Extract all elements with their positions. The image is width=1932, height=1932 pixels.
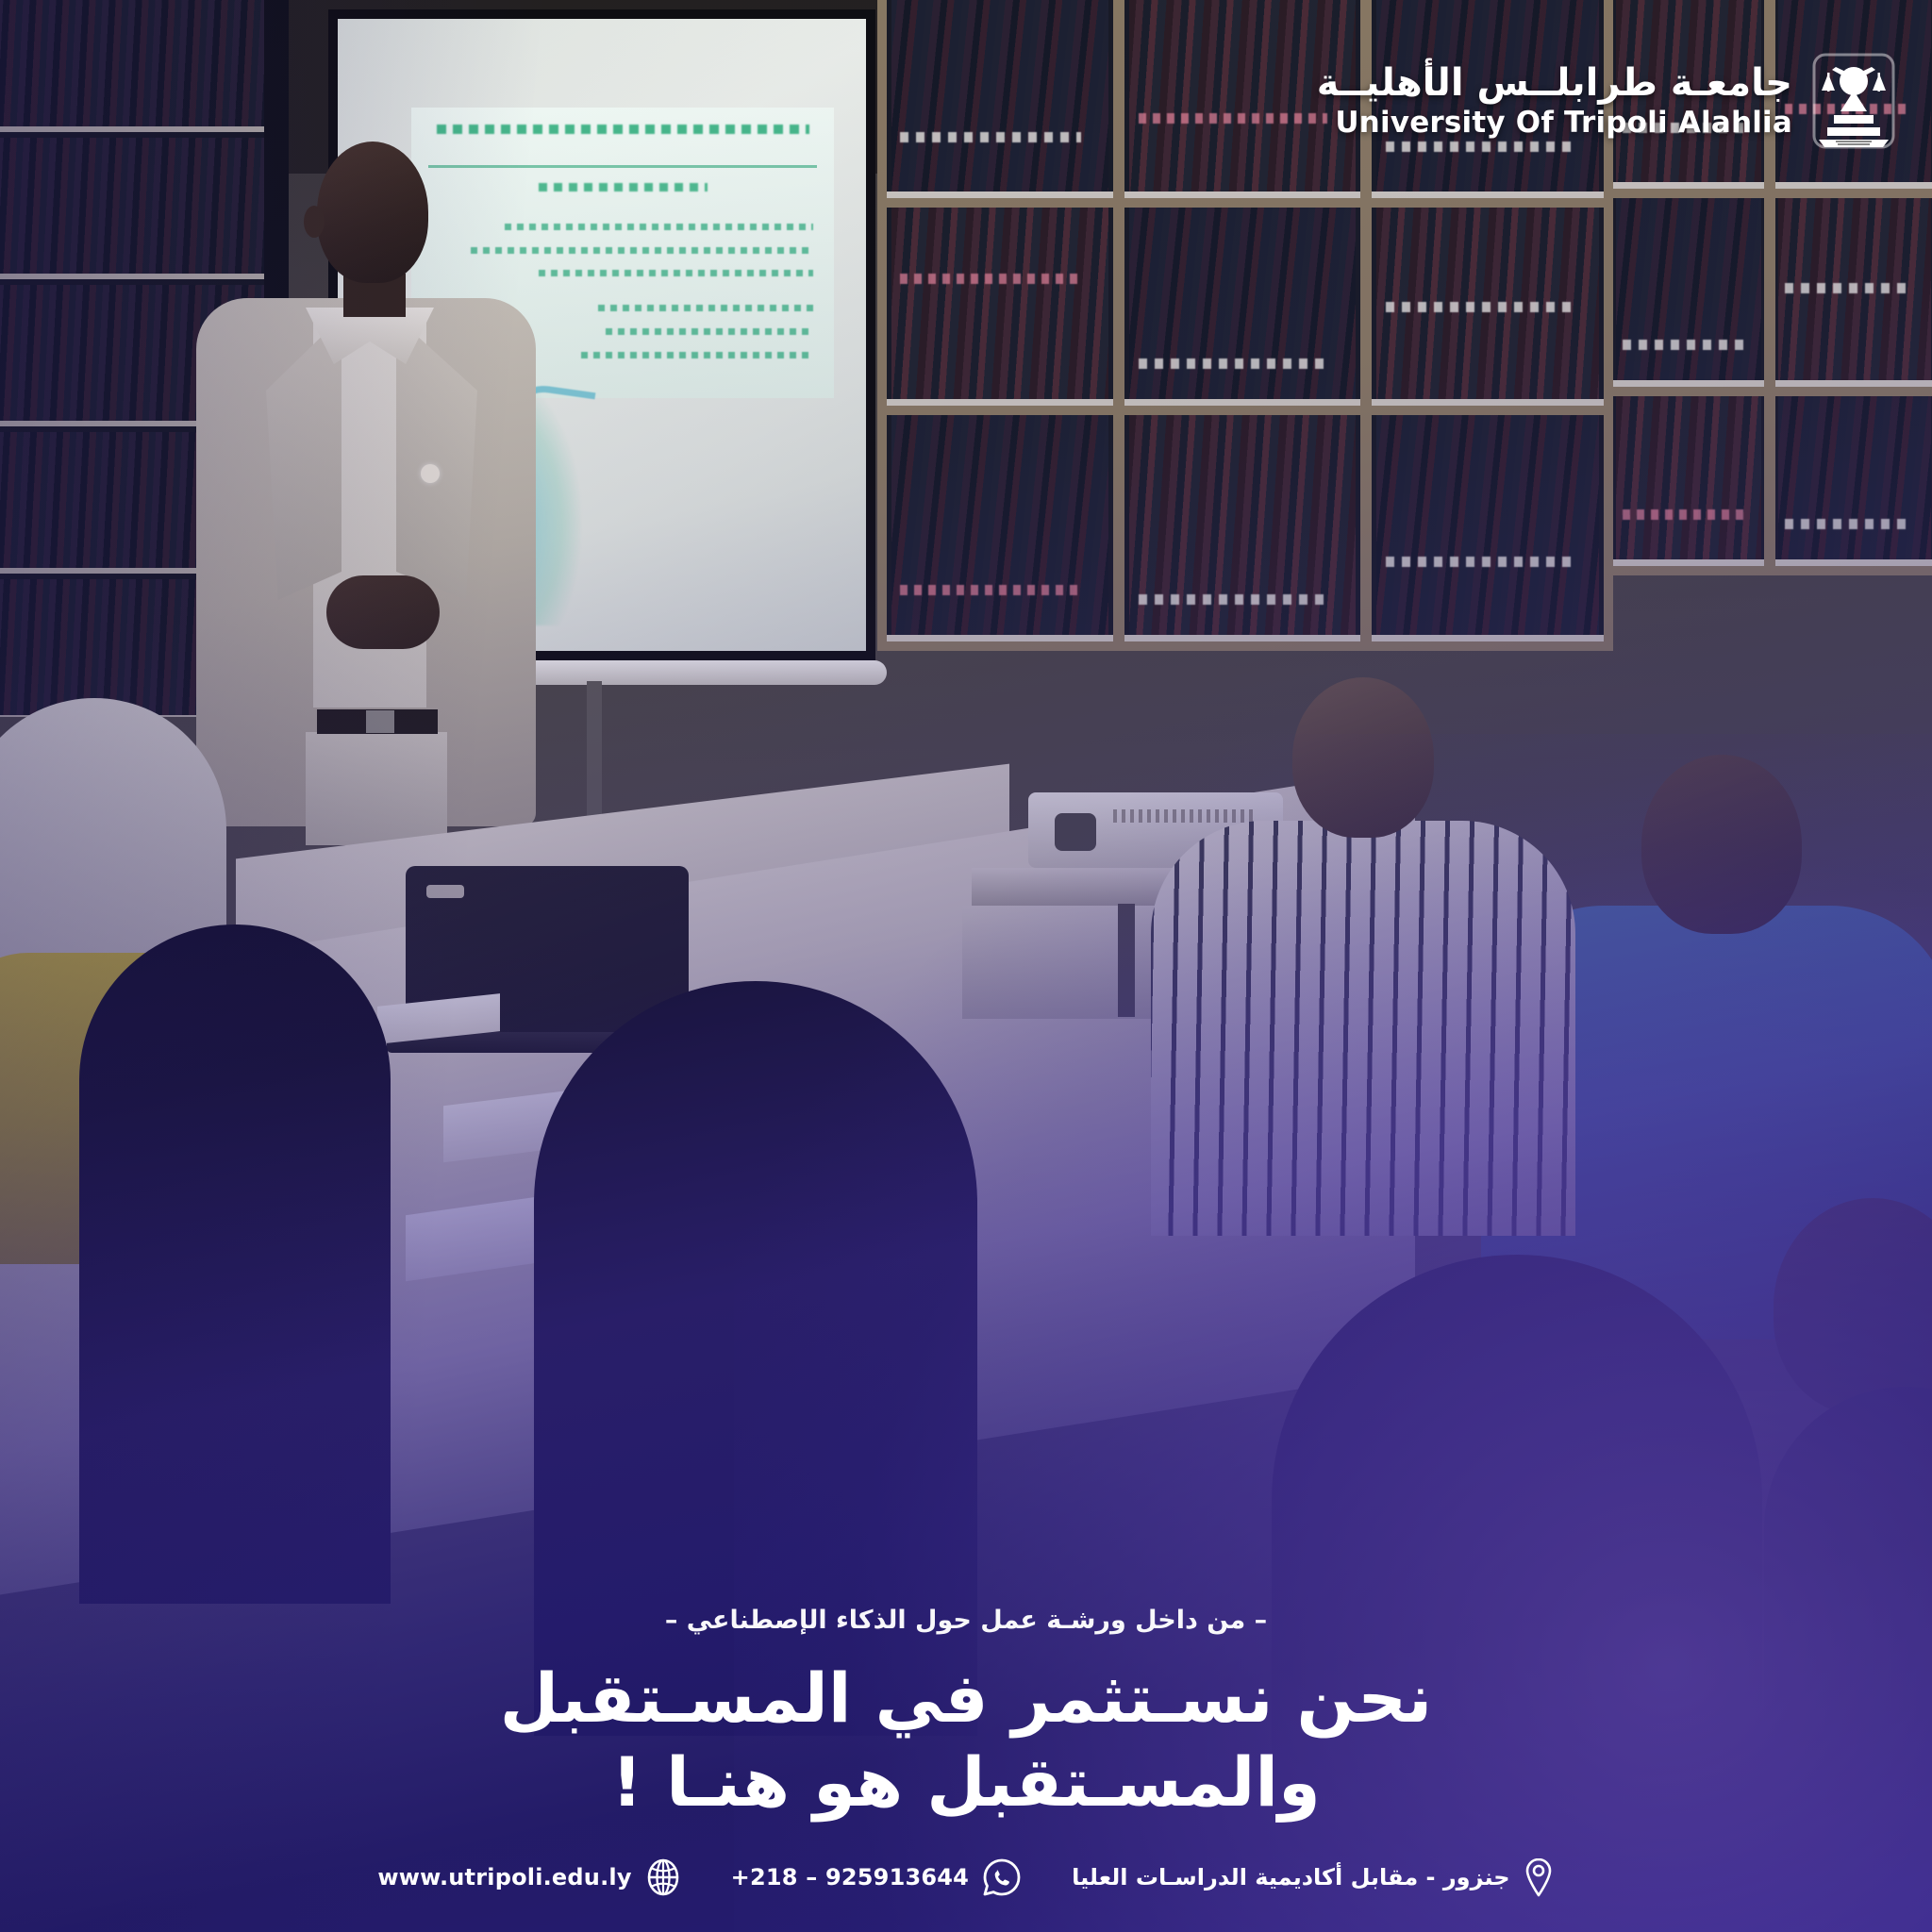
headline-line-2-accent: هنـا <box>666 1742 790 1822</box>
eyebrow-caption: – من داخل ورشـة عمل حول الذكاء الإصطناعي… <box>0 1606 1932 1635</box>
brand-name-english: University Of Tripoli Alahlia <box>1317 108 1792 139</box>
university-crest-icon <box>1809 49 1898 153</box>
headline-line-2: والمسـتقبل هو هنـا ! <box>0 1743 1932 1823</box>
headline-line-1: نحن نسـتثمر في المسـتقبل <box>0 1659 1932 1739</box>
whatsapp-icon <box>981 1857 1023 1898</box>
contact-bar: www.utripoli.edu.ly +218 – 925913644 <box>0 1857 1932 1898</box>
phone-item[interactable]: +218 – 925913644 <box>731 1857 1023 1898</box>
brand-text: جامعـة طرابلــس الأهليــة University Of … <box>1317 63 1792 138</box>
headline-block: – من داخل ورشـة عمل حول الذكاء الإصطناعي… <box>0 1606 1932 1823</box>
address-label: جنزور - مقابل أكاديمية الدراسـات العليا <box>1072 1864 1510 1890</box>
brand-name-arabic: جامعـة طرابلــس الأهليــة <box>1317 63 1792 103</box>
headline-line-2-prefix: والمسـتقبل هو <box>790 1742 1321 1822</box>
social-media-poster: جامعـة طرابلــس الأهليــة University Of … <box>0 0 1932 1932</box>
headline-line-2-suffix: ! <box>611 1742 666 1822</box>
globe-icon <box>644 1858 682 1896</box>
phone-label: +218 – 925913644 <box>731 1864 969 1890</box>
website-item[interactable]: www.utripoli.edu.ly <box>377 1858 681 1896</box>
location-pin-icon <box>1523 1857 1555 1898</box>
address-item: جنزور - مقابل أكاديمية الدراسـات العليا <box>1072 1857 1555 1898</box>
brand-lockup: جامعـة طرابلــس الأهليــة University Of … <box>1317 49 1898 153</box>
website-label: www.utripoli.edu.ly <box>377 1864 631 1890</box>
